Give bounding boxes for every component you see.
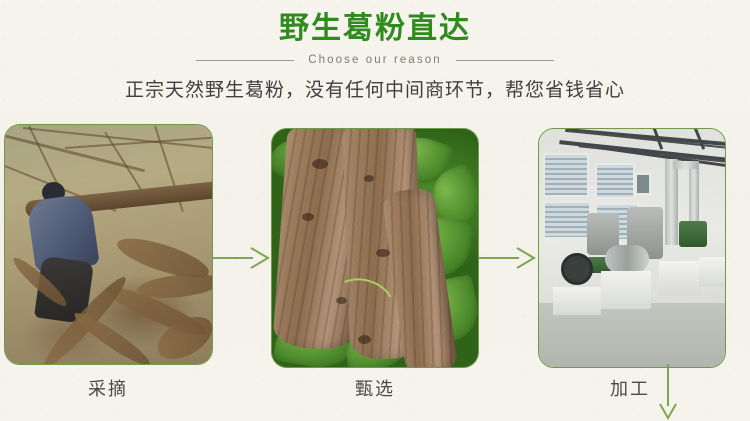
process-card-2	[271, 128, 479, 368]
process-photo-row	[0, 124, 750, 368]
flow-arrow-1-icon	[213, 245, 273, 271]
rule-left-decoration	[196, 60, 294, 61]
caption-step-2: 甄选	[335, 378, 415, 402]
tagline-text: 正宗天然野生葛粉，没有任何中间商环节，帮您省钱省心	[0, 77, 750, 103]
factory-processing-photo	[539, 129, 725, 367]
page-title: 野生葛粉直达	[0, 0, 750, 47]
caption-step-1: 采摘	[68, 378, 148, 402]
rule-right-decoration	[456, 60, 554, 61]
caption-row: 采摘 甄选 加工	[0, 378, 750, 410]
process-card-1	[4, 124, 213, 365]
promo-banner: 野生葛粉直达 Choose our reason 正宗天然野生葛粉，没有任何中间…	[0, 0, 750, 421]
subtitle-row: Choose our reason	[0, 52, 750, 68]
process-card-3	[538, 128, 726, 368]
caption-step-3: 加工	[590, 378, 670, 402]
kudzu-roots-photo	[272, 129, 478, 367]
forest-harvesting-photo	[5, 125, 212, 364]
subtitle-english: Choose our reason	[308, 53, 442, 67]
banner-header: 野生葛粉直达 Choose our reason 正宗天然野生葛粉，没有任何中间…	[0, 0, 750, 103]
flow-arrow-2-icon	[479, 245, 539, 271]
